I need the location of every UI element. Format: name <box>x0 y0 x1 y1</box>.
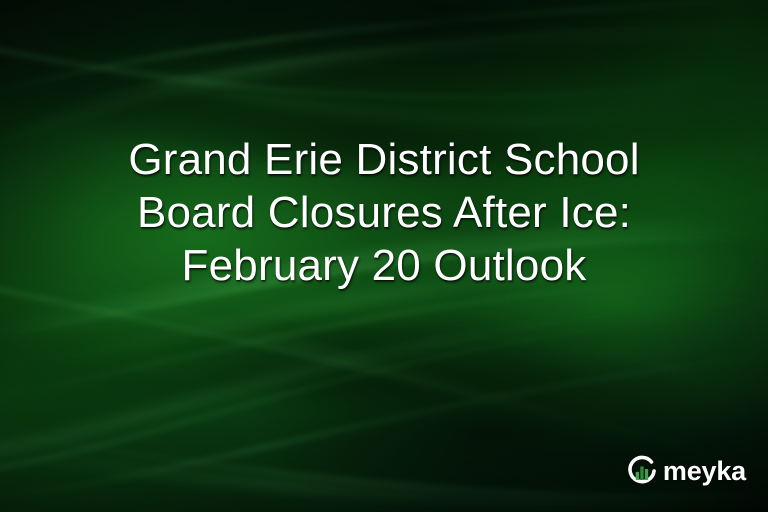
page-title: Grand Erie District School Board Closure… <box>0 133 768 292</box>
page-title-line-2: Board Closures After Ice: <box>36 186 732 239</box>
meyka-wordmark: meyka <box>663 458 746 485</box>
title-card-banner: Grand Erie District School Board Closure… <box>0 0 768 512</box>
meyka-bar-chart-ring-icon <box>625 454 659 488</box>
page-title-line-3: February 20 Outlook <box>36 239 732 292</box>
page-title-line-1: Grand Erie District School <box>36 133 732 186</box>
meyka-logo[interactable]: meyka <box>625 454 746 488</box>
